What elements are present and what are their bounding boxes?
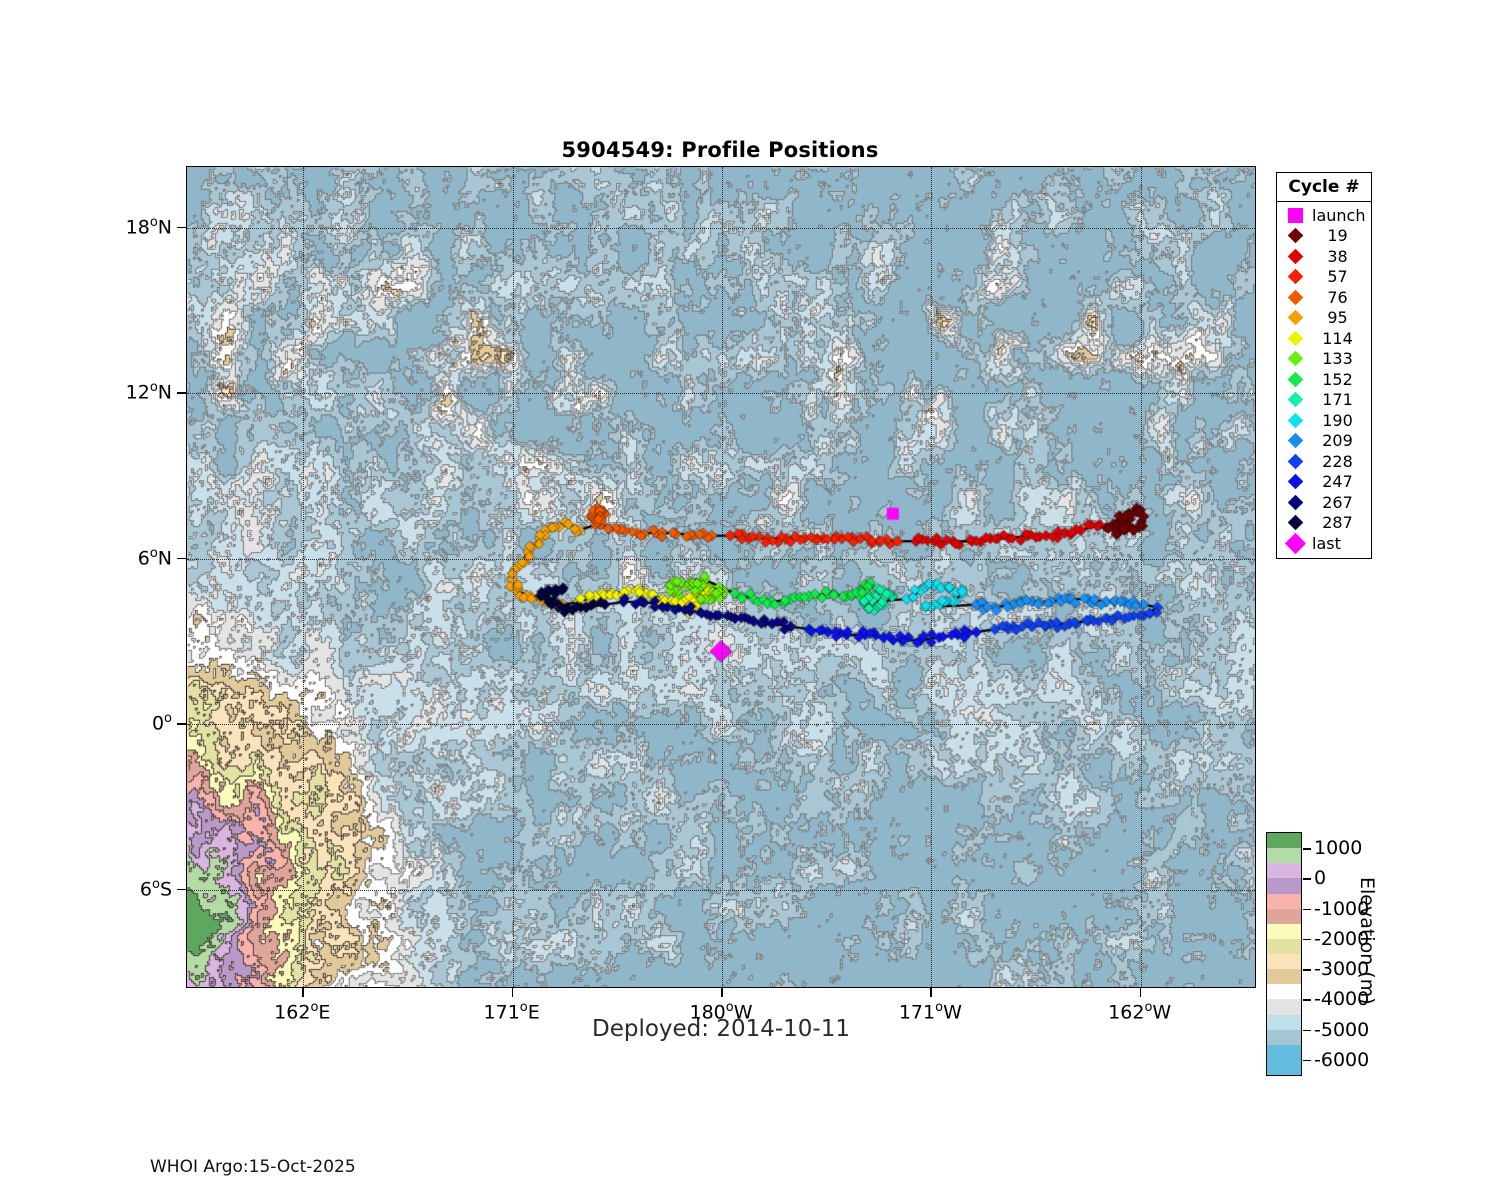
y-axis-tick xyxy=(177,392,186,394)
graticule-latitude xyxy=(187,724,1255,725)
x-axis-tick xyxy=(1140,988,1142,997)
marker-glyph-icon xyxy=(1287,392,1303,408)
legend-entry-label: 38 xyxy=(1308,247,1371,266)
graticule-longitude xyxy=(722,167,723,987)
x-axis-tick xyxy=(302,988,304,997)
colorbar-band xyxy=(1267,999,1301,1014)
legend-entry-152[interactable]: 152 xyxy=(1277,369,1371,390)
legend-entry-19[interactable]: 19 xyxy=(1277,226,1371,247)
colorbar-band xyxy=(1267,939,1301,954)
graticule-latitude xyxy=(187,890,1255,891)
footer-credit: WHOI Argo:15-Oct-2025 xyxy=(150,1157,356,1177)
colorbar-band xyxy=(1267,954,1301,969)
colorbar-band xyxy=(1267,833,1301,848)
legend-entry-57[interactable]: 57 xyxy=(1277,267,1371,288)
x-axis-tick xyxy=(512,988,514,997)
legend-entry-247[interactable]: 247 xyxy=(1277,472,1371,493)
legend-swatch-114 xyxy=(1282,333,1308,344)
legend-swatch-95 xyxy=(1282,312,1308,323)
colorbar-tick xyxy=(1303,848,1311,850)
legend-entry-last[interactable]: last xyxy=(1277,533,1371,554)
legend-entry-label: 287 xyxy=(1308,513,1371,532)
legend-entry-267[interactable]: 267 xyxy=(1277,492,1371,513)
colorbar-tick xyxy=(1303,878,1311,880)
legend-swatch-287 xyxy=(1282,517,1308,528)
y-axis-tick-label: 6oS xyxy=(52,877,172,900)
colorbar-gradient: 10000-1000-2000-3000-4000-5000-6000 xyxy=(1266,832,1302,1076)
legend-entry-label: 247 xyxy=(1308,472,1371,491)
colorbar-tick-label: 0 xyxy=(1314,867,1326,889)
legend-entry-95[interactable]: 95 xyxy=(1277,308,1371,329)
legend-entry-76[interactable]: 76 xyxy=(1277,287,1371,308)
legend-entry-label: 133 xyxy=(1308,349,1371,368)
legend-swatch-38 xyxy=(1282,251,1308,262)
legend-entry-label: 190 xyxy=(1308,411,1371,430)
x-axis-tick xyxy=(721,988,723,997)
legend-entry-label: 114 xyxy=(1308,329,1371,348)
legend-entry-launch[interactable]: launch xyxy=(1277,205,1371,226)
colorbar-band xyxy=(1267,984,1301,999)
y-axis-tick-label: 18oN xyxy=(52,215,172,238)
legend-entry-38[interactable]: 38 xyxy=(1277,246,1371,267)
legend-entry-label: 228 xyxy=(1308,452,1371,471)
legend-swatch-267 xyxy=(1282,497,1308,508)
graticule-longitude xyxy=(1141,167,1142,987)
marker-glyph-icon xyxy=(1284,533,1305,554)
graticule-latitude xyxy=(187,228,1255,229)
colorbar-band xyxy=(1267,848,1301,863)
legend-entry-label: 171 xyxy=(1308,390,1371,409)
colorbar-tick-label: -5000 xyxy=(1314,1019,1369,1041)
legend-swatch-76 xyxy=(1282,292,1308,303)
colorbar-band xyxy=(1267,1015,1301,1030)
cycle-legend[interactable]: Cycle # launch19385776951141331521711902… xyxy=(1276,172,1372,559)
legend-entry-label: launch xyxy=(1308,206,1371,225)
legend-entry-171[interactable]: 171 xyxy=(1277,390,1371,411)
legend-entry-label: 57 xyxy=(1308,267,1371,286)
legend-entry-label: 19 xyxy=(1308,226,1371,245)
legend-entry-133[interactable]: 133 xyxy=(1277,349,1371,370)
graticule-longitude xyxy=(513,167,514,987)
elevation-colorbar: 10000-1000-2000-3000-4000-5000-6000 xyxy=(1266,832,1302,1076)
marker-glyph-icon xyxy=(1287,228,1303,244)
y-axis-tick xyxy=(177,723,186,725)
legend-entry-287[interactable]: 287 xyxy=(1277,513,1371,534)
colorbar-band xyxy=(1267,878,1301,893)
legend-title: Cycle # xyxy=(1277,173,1371,202)
graticule-latitude xyxy=(187,393,1255,394)
marker-glyph-icon xyxy=(1287,351,1303,367)
marker-glyph-icon xyxy=(1287,412,1303,428)
marker-glyph-icon xyxy=(1287,269,1303,285)
y-axis-tick xyxy=(177,889,186,891)
marker-glyph-icon xyxy=(1287,310,1303,326)
graticule-latitude xyxy=(187,559,1255,560)
colorbar-band xyxy=(1267,924,1301,939)
marker-glyph-icon xyxy=(1287,289,1303,305)
legend-entry-228[interactable]: 228 xyxy=(1277,451,1371,472)
graticule-longitude xyxy=(303,167,304,987)
legend-entry-114[interactable]: 114 xyxy=(1277,328,1371,349)
legend-entry-list: launch1938577695114133152171190209228247… xyxy=(1277,202,1371,558)
legend-swatch-190 xyxy=(1282,415,1308,426)
colorbar-axis-title: Elevation (m) xyxy=(1356,877,1378,1005)
y-axis-tick xyxy=(177,227,186,229)
page-title: 5904549: Profile Positions xyxy=(0,138,1440,162)
legend-swatch-last xyxy=(1282,536,1308,551)
colorbar-band xyxy=(1267,909,1301,924)
legend-swatch-247 xyxy=(1282,476,1308,487)
legend-entry-209[interactable]: 209 xyxy=(1277,431,1371,452)
marker-glyph-icon xyxy=(1287,371,1303,387)
marker-glyph-icon xyxy=(1287,248,1303,264)
legend-swatch-228 xyxy=(1282,456,1308,467)
colorbar-tick-label: -6000 xyxy=(1314,1049,1369,1071)
legend-entry-label: 152 xyxy=(1308,370,1371,389)
legend-entry-label: 95 xyxy=(1308,308,1371,327)
legend-entry-label: 267 xyxy=(1308,493,1371,512)
colorbar-tick xyxy=(1303,939,1311,941)
colorbar-tick-label: 1000 xyxy=(1314,837,1362,859)
deployed-caption: Deployed: 2014-10-11 xyxy=(186,1016,1256,1042)
colorbar-band xyxy=(1267,1030,1301,1045)
legend-entry-label: 209 xyxy=(1308,431,1371,450)
float-trajectory-overlay xyxy=(187,167,1255,987)
y-axis-tick-label: 6oN xyxy=(52,546,172,569)
marker-glyph-icon xyxy=(1287,474,1303,490)
colorbar-band xyxy=(1267,863,1301,878)
legend-entry-label: 76 xyxy=(1308,288,1371,307)
colorbar-band xyxy=(1267,1060,1301,1075)
x-axis-tick xyxy=(930,988,932,997)
y-axis-tick-label: 12oN xyxy=(52,380,172,403)
colorbar-band xyxy=(1267,1045,1301,1060)
graticule-longitude xyxy=(931,167,932,987)
colorbar-band xyxy=(1267,894,1301,909)
marker-glyph-icon xyxy=(1287,453,1303,469)
legend-swatch-19 xyxy=(1282,230,1308,241)
legend-swatch-209 xyxy=(1282,435,1308,446)
legend-entry-190[interactable]: 190 xyxy=(1277,410,1371,431)
legend-entry-label: last xyxy=(1308,534,1371,553)
legend-swatch-launch xyxy=(1282,208,1308,223)
y-axis-tick-label: 0o xyxy=(52,711,172,734)
marker-glyph-icon xyxy=(1288,208,1303,223)
colorbar-tick xyxy=(1303,999,1311,1001)
legend-swatch-171 xyxy=(1282,394,1308,405)
marker-glyph-icon xyxy=(1287,330,1303,346)
legend-swatch-133 xyxy=(1282,353,1308,364)
colorbar-band xyxy=(1267,969,1301,984)
colorbar-tick xyxy=(1303,1060,1311,1062)
colorbar-tick xyxy=(1303,909,1311,911)
marker-glyph-icon xyxy=(1287,433,1303,449)
marker-glyph-icon xyxy=(1287,515,1303,531)
y-axis-tick xyxy=(177,558,186,560)
colorbar-tick xyxy=(1303,969,1311,971)
legend-swatch-57 xyxy=(1282,271,1308,282)
marker-glyph-icon xyxy=(1287,494,1303,510)
legend-swatch-152 xyxy=(1282,374,1308,385)
colorbar-tick xyxy=(1303,1030,1311,1032)
map-plot-area[interactable] xyxy=(186,166,1256,988)
